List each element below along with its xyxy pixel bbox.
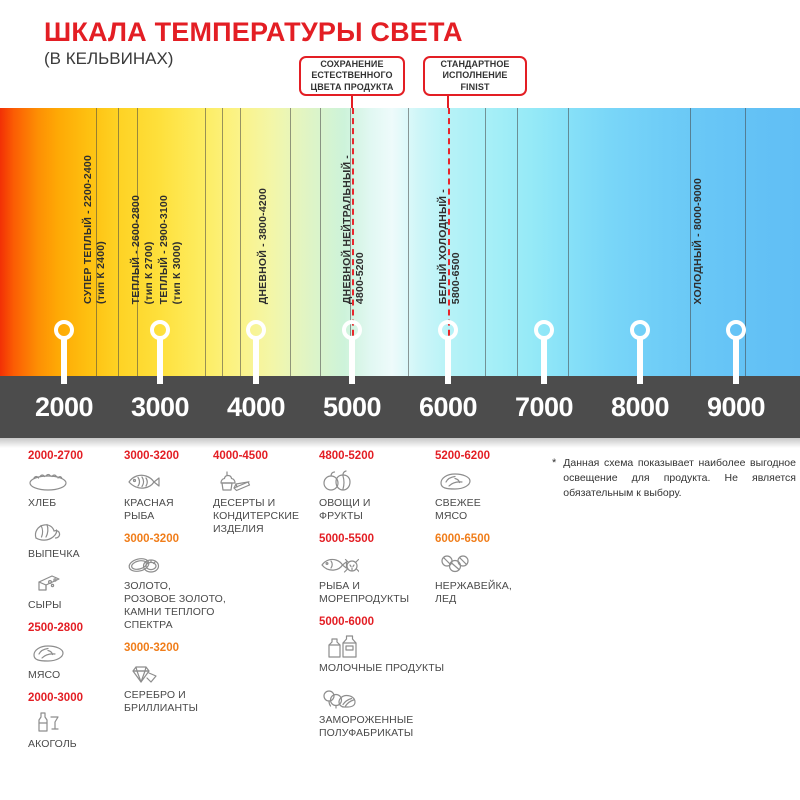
red-fish-icon [124, 469, 226, 495]
legend-group: 3000-3200КРАСНАЯ РЫБА [124, 450, 226, 523]
legend-item: СВЕЖЕЕ МЯСО [435, 469, 512, 523]
legend-item-label: ОВОЩИ И ФРУКТЫ [319, 497, 444, 523]
legend-item-label: ЗАМОРОЖЕННЫЕ ПОЛУФАБРИКАТЫ [319, 714, 444, 740]
callout-text: СОХРАНЕНИЕ ЕСТЕСТВЕННОГО ЦВЕТА ПРОДУКТА [311, 59, 394, 94]
legend-item-label: СЫРЫ [28, 599, 83, 612]
legend-column-3: 4000-4500ДЕСЕРТЫ И КОНДИТЕРСКИЕ ИЗДЕЛИЯ [213, 450, 299, 546]
marker-ring [438, 320, 458, 340]
axis-tick-7000k [541, 368, 547, 384]
callout-connector-line [447, 96, 449, 108]
axis-tick-label: 3000 [131, 392, 189, 423]
legend-range-label: 3000-3200 [124, 450, 226, 463]
cheese-icon [28, 571, 83, 597]
legend-range-label: 2500-2800 [28, 622, 83, 635]
band-separator-line [745, 108, 746, 376]
legend-group: 3000-3200ЗОЛОТО, РОЗОВОЕ ЗОЛОТО, КАМНИ Т… [124, 533, 226, 632]
seafood-icon [319, 552, 444, 578]
infographic-page: ШКАЛА ТЕМПЕРАТУРЫ СВЕТА (В КЕЛЬВИНАХ) СО… [0, 0, 800, 800]
legend-range-label: 2000-2700 [28, 450, 83, 463]
marker-ring [726, 320, 746, 340]
callout-text: СТАНДАРТНОЕ ИСПОЛНЕНИЕ FINIST [440, 59, 509, 94]
footnote: * Данная схема показывает наиболее выгод… [552, 456, 796, 502]
band-separator-line [485, 108, 486, 376]
legend-item-label: КРАСНАЯ РЫБА [124, 497, 226, 523]
legend-item-label: ХЛЕБ [28, 497, 83, 510]
legend-group: 3000-3200СЕРЕБРО И БРИЛЛИАНТЫ [124, 642, 226, 715]
band-separator-line [205, 108, 206, 376]
legend-item-label: СЕРЕБРО И БРИЛЛИАНТЫ [124, 689, 226, 715]
legend-item: РЫБА И МОРЕПРОДУКТЫ [319, 552, 444, 606]
legend-group: 2000-3000АКОГОЛЬ [28, 692, 83, 752]
marker-ring [246, 320, 266, 340]
legend-range-label: 3000-3200 [124, 642, 226, 655]
frozen-food-icon [319, 686, 444, 712]
footnote-marker: * [552, 456, 556, 502]
band-separator-line [222, 108, 223, 376]
axis-tick-label: 9000 [707, 392, 765, 423]
axis-tick-label: 4000 [227, 392, 285, 423]
marker-ring [534, 320, 554, 340]
bread-icon [28, 469, 83, 495]
legend-range-label: 2000-3000 [28, 692, 83, 705]
bar-shadow [0, 438, 800, 448]
band-label-cold: ХОЛОДНЫЙ - 8000-9000 [692, 178, 705, 304]
dessert-icon [213, 469, 299, 495]
legend-range-label: 5000-5500 [319, 533, 444, 546]
band-separator-line [118, 108, 119, 376]
legend-item-label: СВЕЖЕЕ МЯСО [435, 497, 512, 523]
pastry-icon [28, 520, 83, 546]
legend-item: МЯСО [28, 641, 83, 682]
band-separator-line [320, 108, 321, 376]
legend-item: ОВОЩИ И ФРУКТЫ [319, 469, 444, 523]
band-separator-line [517, 108, 518, 376]
band-separator-line [290, 108, 291, 376]
callout-connector-line [351, 96, 353, 108]
band-separator-line [408, 108, 409, 376]
legend-range-label: 5000-6000 [319, 616, 444, 629]
meat-icon [28, 641, 83, 667]
legend-group: 4800-5200ОВОЩИ И ФРУКТЫ [319, 450, 444, 523]
axis-tick-label: 8000 [611, 392, 669, 423]
legend-item-label: НЕРЖАВЕЙКА, ЛЕД [435, 580, 512, 606]
legend-column-5: 5200-6200СВЕЖЕЕ МЯСО6000-6500НЕРЖАВЕЙКА,… [435, 450, 512, 616]
footnote-text: Данная схема показывает наиболее выгодно… [563, 456, 796, 502]
axis-tick-5000k [349, 368, 355, 384]
legend-item: СЕРЕБРО И БРИЛЛИАНТЫ [124, 661, 226, 715]
legend-range-label: 6000-6500 [435, 533, 512, 546]
legend-item: ХЛЕБ [28, 469, 83, 510]
band-separator-line [240, 108, 241, 376]
legend-item-label: МОЛОЧНЫЕ ПРОДУКТЫ [319, 662, 444, 675]
legend-group: 2500-2800МЯСО [28, 622, 83, 682]
legend-item-label: РЫБА И МОРЕПРОДУКТЫ [319, 580, 444, 606]
legend-group: 5000-6000МОЛОЧНЫЕ ПРОДУКТЫЗАМОРОЖЕННЫЕ П… [319, 616, 444, 740]
fruits-vegetables-icon [319, 469, 444, 495]
legend-item-label: ДЕСЕРТЫ И КОНДИТЕРСКИЕ ИЗДЕЛИЯ [213, 497, 299, 536]
kelvin-axis-bar: 20003000400050006000700080009000 [0, 376, 800, 438]
axis-tick-2000k [61, 368, 67, 384]
axis-tick-9000k [733, 368, 739, 384]
legend-group: 2000-2700ХЛЕБВЫПЕЧКАСЫРЫ [28, 450, 83, 612]
axis-tick-3000k [157, 368, 163, 384]
legend-item-label: ВЫПЕЧКА [28, 548, 83, 561]
band-label-super-warm: СУПЕР ТЕПЛЫЙ - 2200-2400 (тип К 2400) [82, 155, 108, 304]
alcohol-icon [28, 710, 83, 736]
legend-column-4: 4800-5200ОВОЩИ И ФРУКТЫ5000-5500РЫБА И М… [319, 450, 444, 750]
band-label-white-cold: БЕЛЫЙ ХОЛОДНЫЙ - 5800-6500 [437, 189, 463, 304]
axis-tick-6000k [445, 368, 451, 384]
band-label-warm-2700: ТЕПЛЫЙ - 2600-2800 (тип К 2700) [130, 195, 156, 304]
band-separator-line [568, 108, 569, 376]
axis-tick-label: 7000 [515, 392, 573, 423]
legend-range-label: 4000-4500 [213, 450, 299, 463]
legend-item: АКОГОЛЬ [28, 710, 83, 751]
axis-tick-label: 2000 [35, 392, 93, 423]
band-label-warm-3000: ТЕПЛЫЙ - 2900-3100 (тип К 3000) [158, 195, 184, 304]
legend-item: МОЛОЧНЫЕ ПРОДУКТЫ [319, 634, 444, 675]
natural-color-callout: СОХРАНЕНИЕ ЕСТЕСТВЕННОГО ЦВЕТА ПРОДУКТА [299, 56, 405, 96]
diamond-icon [124, 661, 226, 687]
legend-item: ЗОЛОТО, РОЗОВОЕ ЗОЛОТО, КАМНИ ТЕПЛОГО СП… [124, 552, 226, 633]
axis-tick-4000k [253, 368, 259, 384]
legend-item: ДЕСЕРТЫ И КОНДИТЕРСКИЕ ИЗДЕЛИЯ [213, 469, 299, 536]
legend-item: КРАСНАЯ РЫБА [124, 469, 226, 523]
legend-item: ВЫПЕЧКА [28, 520, 83, 561]
axis-tick-label: 5000 [323, 392, 381, 423]
legend-column-2: 3000-3200КРАСНАЯ РЫБА3000-3200ЗОЛОТО, РО… [124, 450, 226, 725]
finist-standard-callout: СТАНДАРТНОЕ ИСПОЛНЕНИЕ FINIST [423, 56, 527, 96]
legend-range-label: 4800-5200 [319, 450, 444, 463]
axis-tick-label: 6000 [419, 392, 477, 423]
temperature-gradient-bar: СУПЕР ТЕПЛЫЙ - 2200-2400 (тип К 2400)ТЕП… [0, 108, 800, 376]
gradient-fill [0, 108, 800, 376]
dairy-icon [319, 634, 444, 660]
legend-item-label: МЯСО [28, 669, 83, 682]
legend-column-1: 2000-2700ХЛЕБВЫПЕЧКАСЫРЫ2500-2800МЯСО200… [28, 450, 83, 762]
marker-ring [150, 320, 170, 340]
legend-group: 4000-4500ДЕСЕРТЫ И КОНДИТЕРСКИЕ ИЗДЕЛИЯ [213, 450, 299, 536]
legend-range-label: 3000-3200 [124, 533, 226, 546]
legend-item-label: ЗОЛОТО, РОЗОВОЕ ЗОЛОТО, КАМНИ ТЕПЛОГО СП… [124, 580, 226, 633]
legend-item: ЗАМОРОЖЕННЫЕ ПОЛУФАБРИКАТЫ [319, 686, 444, 740]
legend-group: 6000-6500НЕРЖАВЕЙКА, ЛЕД [435, 533, 512, 606]
marker-ring [630, 320, 650, 340]
fresh-meat-icon [435, 469, 512, 495]
gold-rings-icon [124, 552, 226, 578]
stainless-ice-icon [435, 552, 512, 578]
legend-range-label: 5200-6200 [435, 450, 512, 463]
legend-group: 5200-6200СВЕЖЕЕ МЯСО [435, 450, 512, 523]
marker-ring [342, 320, 362, 340]
legend-group: 5000-5500РЫБА И МОРЕПРОДУКТЫ [319, 533, 444, 606]
product-legend: 2000-2700ХЛЕБВЫПЕЧКАСЫРЫ2500-2800МЯСО200… [0, 450, 800, 800]
band-separator-line [690, 108, 691, 376]
marker-ring [54, 320, 74, 340]
legend-item: НЕРЖАВЕЙКА, ЛЕД [435, 552, 512, 606]
legend-item: СЫРЫ [28, 571, 83, 612]
page-title: ШКАЛА ТЕМПЕРАТУРЫ СВЕТА [44, 18, 463, 46]
legend-item-label: АКОГОЛЬ [28, 738, 83, 751]
band-label-daylight-neutral: ДНЕВНОЙ НЕЙТРАЛЬНЫЙ - 4800-5200 [341, 155, 367, 304]
band-label-daylight: ДНЕВНОЙ - 3800-4200 [257, 188, 270, 304]
axis-tick-8000k [637, 368, 643, 384]
